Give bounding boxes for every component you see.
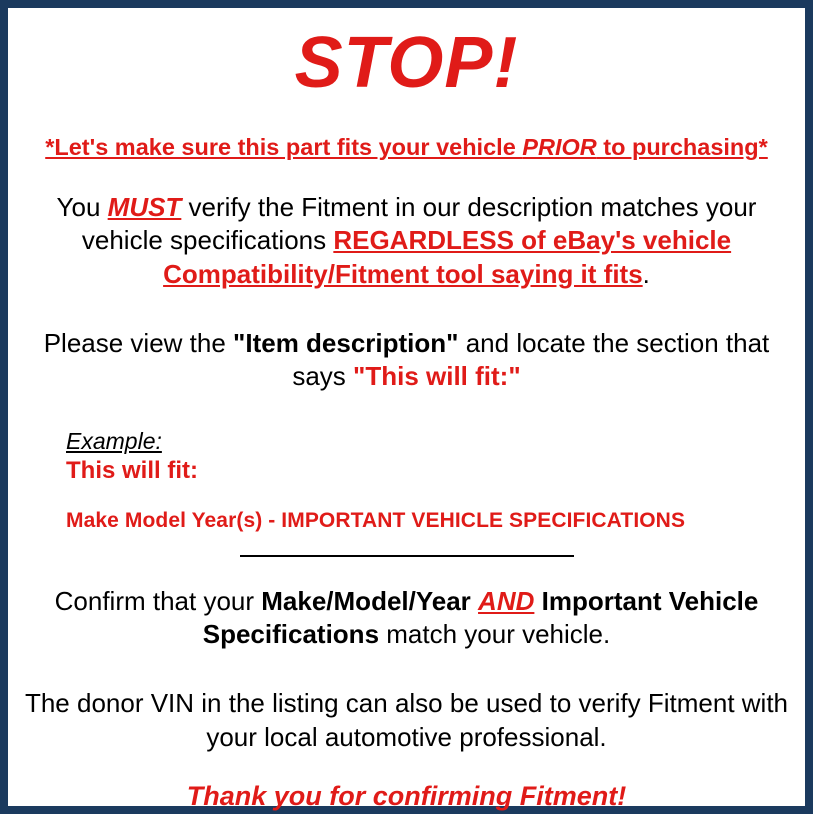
example-label: Example: (66, 427, 795, 455)
and-emphasis: AND (478, 586, 534, 616)
subtitle-lead-text: *Let's make sure this part fits your veh… (45, 134, 522, 160)
must-paragraph-part3: . (643, 259, 650, 289)
page-title: STOP! (18, 26, 795, 101)
must-verify-paragraph: You MUST verify the Fitment in our descr… (18, 191, 795, 291)
item-description-emphasis: "Item description" (233, 328, 458, 358)
example-spec-line: Make Model Year(s) - IMPORTANT VEHICLE S… (66, 508, 795, 533)
make-model-year-emphasis: Make/Model/Year (261, 586, 471, 616)
must-emphasis: MUST (108, 192, 182, 222)
view-paragraph-part1: Please view the (44, 328, 233, 358)
this-will-fit-emphasis: "This will fit:" (353, 361, 521, 391)
donor-vin-paragraph: The donor VIN in the listing can also be… (18, 687, 795, 754)
example-block: Example: This will fit: Make Model Year(… (18, 427, 795, 533)
confirm-paragraph-part1: Confirm that your (55, 586, 262, 616)
view-description-paragraph: Please view the "Item description" and l… (18, 327, 795, 394)
subtitle-tail-text: to purchasing* (597, 134, 768, 160)
subtitle-banner: *Let's make sure this part fits your veh… (18, 133, 795, 161)
confirm-paragraph-part2: match your vehicle. (379, 619, 610, 649)
fitment-notice-card: STOP! *Let's make sure this part fits yo… (0, 0, 813, 814)
must-paragraph-part1: You (57, 192, 108, 222)
section-divider (18, 555, 795, 557)
example-fit-line: This will fit: (66, 456, 795, 485)
divider-rule (240, 555, 574, 557)
thank-you-message: Thank you for confirming Fitment! (18, 780, 795, 812)
confirm-space-1 (471, 586, 478, 616)
confirm-paragraph: Confirm that your Make/Model/Year AND Im… (18, 585, 795, 652)
confirm-space-2 (534, 586, 541, 616)
subtitle-prior-emphasis: PRIOR (522, 134, 596, 160)
